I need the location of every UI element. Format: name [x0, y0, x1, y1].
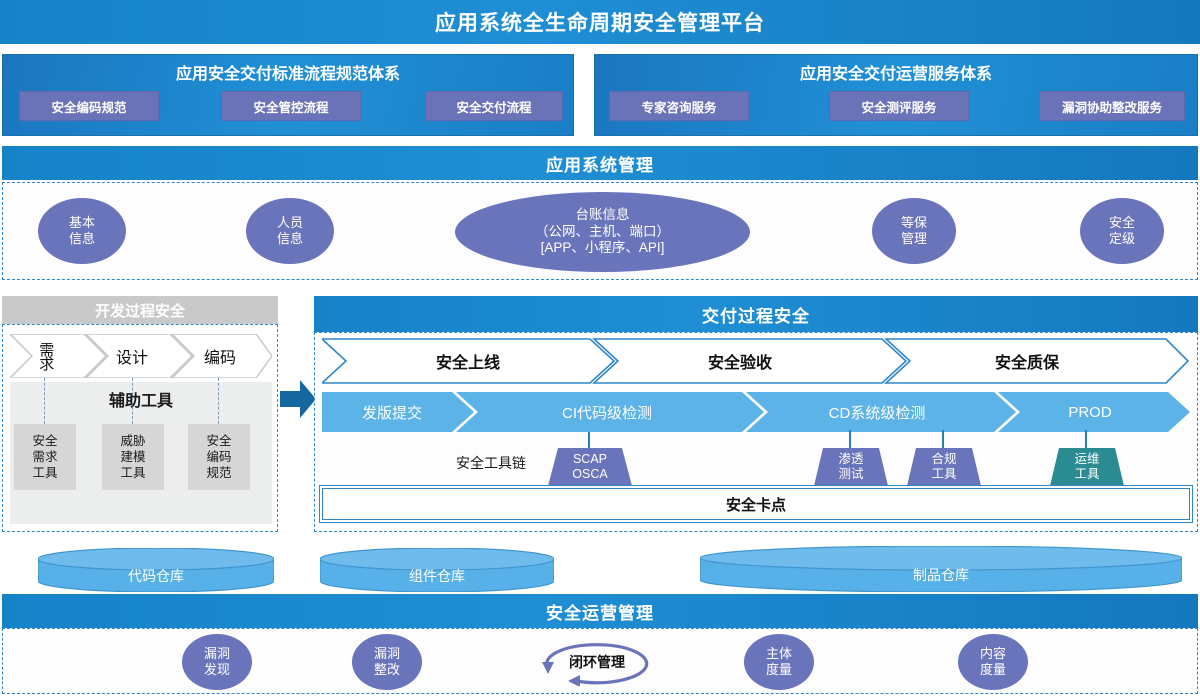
dev-connector-3: [218, 378, 219, 424]
toolchain-penetration-test[interactable]: 渗透 测试: [814, 448, 888, 486]
tool-secure-coding-spec[interactable]: 安全 编码 规范: [188, 424, 250, 490]
dev-stage-requirement[interactable]: 需求: [14, 336, 76, 376]
toolchain-scap-osca[interactable]: SCAP OSCA: [548, 448, 632, 486]
repository-artifact[interactable]: 制品仓库: [700, 546, 1182, 592]
dev-connector-1: [44, 378, 45, 424]
delivery-stage-secure-launch[interactable]: 安全上线: [322, 338, 614, 384]
panel-standard-title: 应用安全交付标准流程规范体系: [3, 60, 573, 84]
repository-code-label: 代码仓库: [38, 560, 274, 592]
toolchain-stem-pentest: [849, 430, 851, 448]
node-content-metric[interactable]: 内容 度量: [958, 634, 1028, 690]
chip-secure-coding-spec[interactable]: 安全编码规范: [19, 91, 159, 121]
delivery-stage-ci-code-scan[interactable]: CI代码级检测: [462, 392, 752, 432]
node-mlps-management[interactable]: 等保 管理: [872, 198, 956, 264]
toolchain-stem-compliance: [942, 430, 944, 448]
diagram-canvas: 应用系统全生命周期安全管理平台 应用安全交付标准流程规范体系 安全编码规范 安全…: [0, 0, 1200, 700]
toolchain-compliance-tool[interactable]: 合规 工具: [907, 448, 981, 486]
node-basic-info[interactable]: 基本 信息: [38, 198, 126, 264]
repository-artifact-label: 制品仓库: [700, 558, 1182, 592]
sec-ops-banner: 安全运营管理: [2, 594, 1198, 628]
delivery-process-banner: 交付过程安全: [314, 296, 1198, 332]
closed-loop-label: 闭环管理: [524, 638, 670, 686]
delivery-stage-cd-system-scan[interactable]: CD系统级检测: [752, 392, 1002, 432]
node-vuln-remediation[interactable]: 漏洞 整改: [352, 634, 422, 690]
security-checkpoint-bar[interactable]: 安全卡点: [322, 488, 1190, 520]
panel-service-title: 应用安全交付运营服务体系: [595, 60, 1197, 84]
panel-operation-service-system: 应用安全交付运营服务体系 专家咨询服务 安全测评服务 漏洞协助整改服务: [594, 54, 1198, 136]
delivery-stage-prod[interactable]: PROD: [1002, 392, 1178, 432]
node-personnel-info[interactable]: 人员 信息: [246, 198, 334, 264]
platform-title-banner: 应用系统全生命周期安全管理平台: [0, 0, 1200, 44]
chip-security-control-flow[interactable]: 安全管控流程: [221, 91, 361, 121]
repository-code[interactable]: 代码仓库: [38, 548, 274, 592]
toolchain-ops-tool[interactable]: 运维 工具: [1050, 448, 1124, 486]
repository-component[interactable]: 组件仓库: [320, 548, 554, 592]
dev-stage-coding[interactable]: 编码: [182, 334, 258, 378]
toolchain-label: 安全工具链: [436, 452, 546, 474]
chip-vuln-remediation-service[interactable]: 漏洞协助整改服务: [1039, 91, 1185, 121]
panel-standard-process-system: 应用安全交付标准流程规范体系 安全编码规范 安全管控流程 安全交付流程: [2, 54, 574, 136]
node-ledger-info[interactable]: 台账信息 （公网、主机、端口） [APP、小程序、API]: [455, 192, 750, 272]
toolchain-stem-scap: [588, 432, 590, 448]
repository-component-label: 组件仓库: [320, 560, 554, 592]
dev-connector-2: [132, 378, 133, 424]
node-vuln-discovery[interactable]: 漏洞 发现: [182, 634, 252, 690]
dev-stage-design[interactable]: 设计: [94, 334, 170, 378]
tool-security-requirement[interactable]: 安全 需求 工具: [14, 424, 76, 490]
chip-security-assessment-service[interactable]: 安全测评服务: [829, 91, 969, 121]
node-security-grading[interactable]: 安全 定级: [1080, 198, 1164, 264]
delivery-stage-secure-acceptance[interactable]: 安全验收: [594, 338, 886, 384]
chip-security-delivery-flow[interactable]: 安全交付流程: [425, 91, 563, 121]
app-system-management-banner: 应用系统管理: [2, 146, 1198, 180]
dev-process-banner: 开发过程安全: [2, 296, 278, 324]
delivery-stage-secure-warranty[interactable]: 安全质保: [886, 338, 1168, 384]
toolchain-stem-ops: [1085, 430, 1087, 448]
node-subject-metric[interactable]: 主体 度量: [744, 634, 814, 690]
tool-threat-modeling[interactable]: 威胁 建模 工具: [102, 424, 164, 490]
chip-expert-consulting-service[interactable]: 专家咨询服务: [609, 91, 749, 121]
flow-arrow-icon: [280, 378, 316, 420]
delivery-stage-release-submit[interactable]: 发版提交: [322, 392, 462, 432]
dev-tools-title: 辅助工具: [10, 386, 272, 412]
